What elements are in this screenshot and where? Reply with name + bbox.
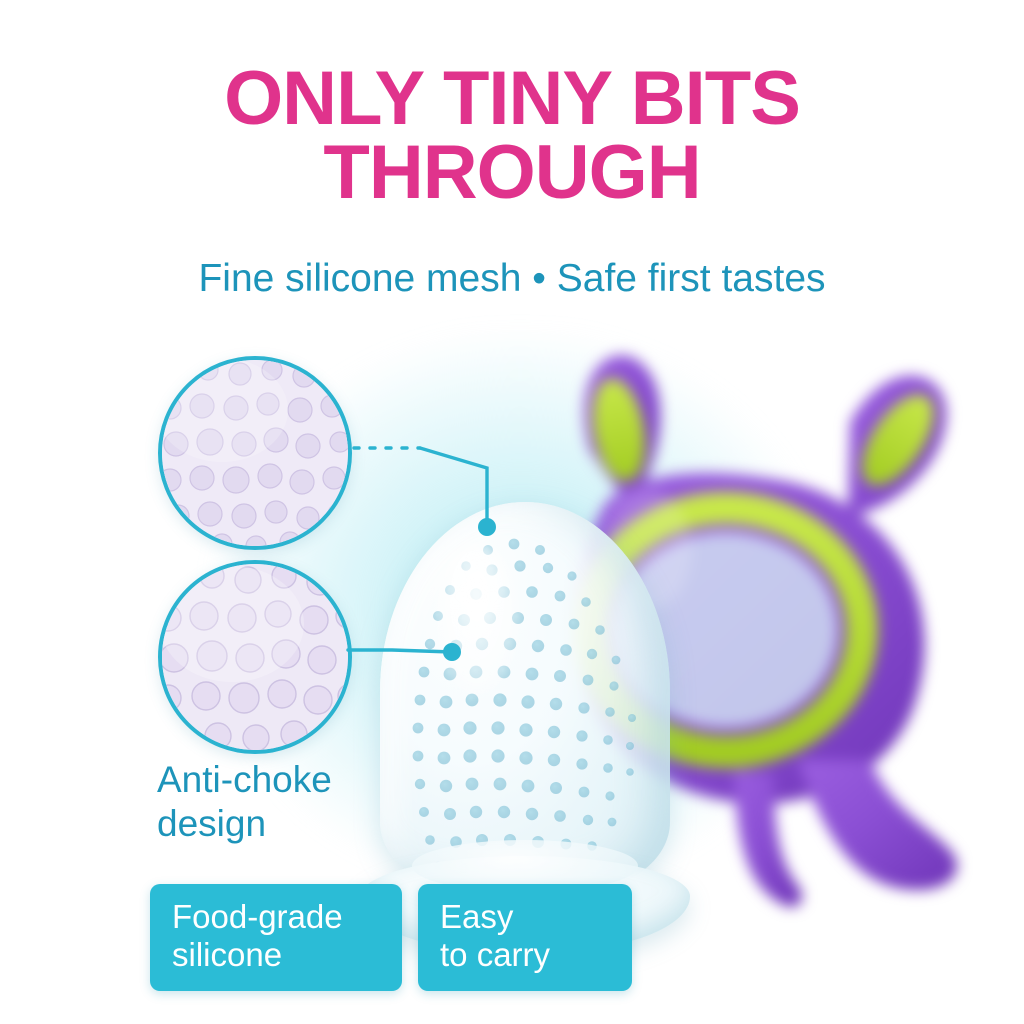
badge-easy-to-carry: Easy to carry xyxy=(418,884,632,991)
badge-1-line-2: silicone xyxy=(172,936,380,974)
page-title: ONLY TINY BITS THROUGH xyxy=(0,62,1024,211)
mesh-holes-texture xyxy=(158,356,352,550)
feeder-mesh-holes xyxy=(380,502,670,892)
anti-choke-label: Anti-choke design xyxy=(157,758,417,845)
feature-badges: Food-grade silicone Easy to carry xyxy=(150,884,632,991)
feeder-highlight xyxy=(436,544,518,694)
product-poster: ONLY TINY BITS THROUGH Fine silicone mes… xyxy=(0,0,1024,1024)
anti-choke-texture xyxy=(158,560,352,754)
badge-2-line-1: Easy xyxy=(440,898,610,936)
zoom-bubble-mesh-holes xyxy=(158,356,352,550)
anti-choke-label-line-2: design xyxy=(157,802,417,846)
badge-food-grade-silicone: Food-grade silicone xyxy=(150,884,402,991)
headline-line-1: ONLY TINY BITS xyxy=(0,62,1024,136)
headline-line-2: THROUGH xyxy=(0,136,1024,210)
badge-1-line-1: Food-grade xyxy=(172,898,380,936)
badge-2-line-2: to carry xyxy=(440,936,610,974)
zoom-bubble-anti-choke xyxy=(158,560,352,754)
anti-choke-label-line-1: Anti-choke xyxy=(157,758,417,802)
subheadline: Fine silicone mesh • Safe first tastes xyxy=(0,258,1024,301)
